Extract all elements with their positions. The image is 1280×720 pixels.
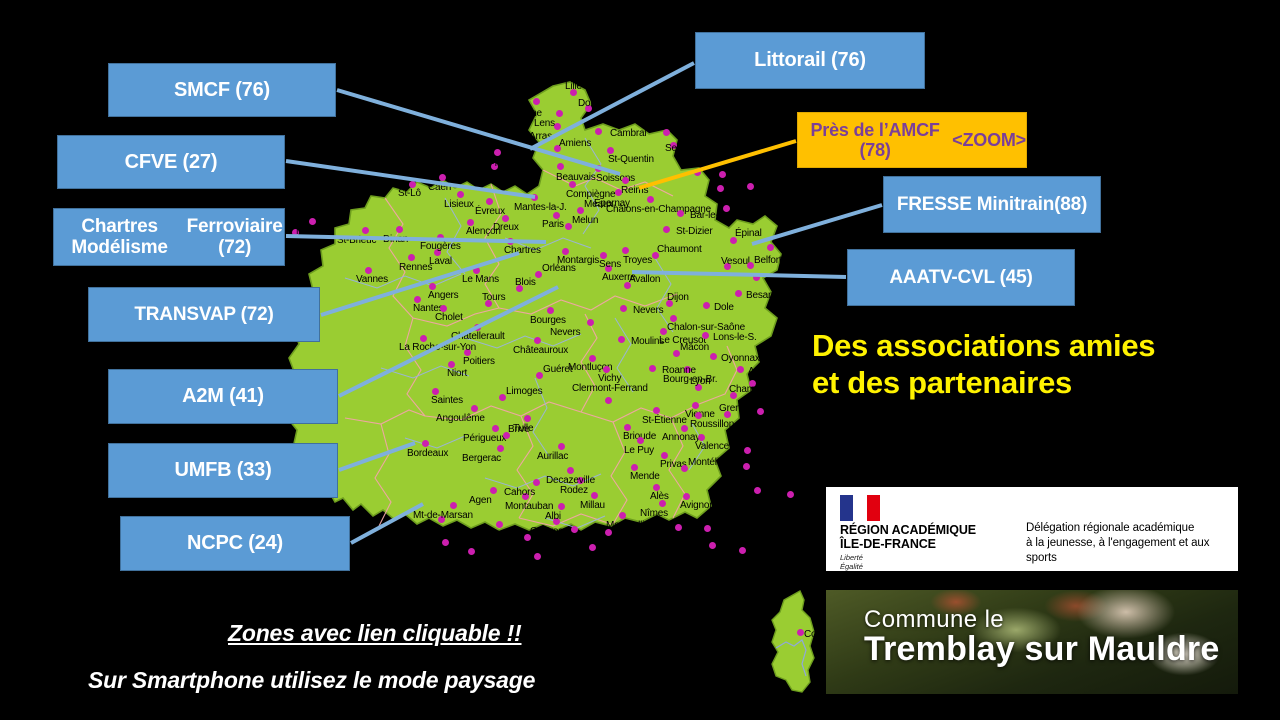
page-title-line: Des associations amies bbox=[812, 328, 1242, 365]
label-box-fresse[interactable]: FRESSE Minitrain(88) bbox=[883, 176, 1101, 233]
label-box-aaatv[interactable]: AAATV-CVL (45) bbox=[847, 249, 1075, 306]
slide-canvas: BéthuneLensArrasDouaiLilleCambraiAmiensS… bbox=[0, 0, 1280, 720]
label-box-cfve[interactable]: CFVE (27) bbox=[57, 135, 285, 189]
label-text-line: TRANSVAP (72) bbox=[134, 304, 273, 325]
french-flag-icon bbox=[840, 495, 880, 521]
note-landscape-mode: Sur Smartphone utilisez le mode paysage bbox=[88, 667, 535, 694]
label-box-umfb[interactable]: UMFB (33) bbox=[108, 443, 338, 498]
label-text-line: Chartres Modélisme bbox=[54, 216, 185, 259]
logo-commune-tremblay-sur-mauldre[interactable]: Commune le Tremblay sur Mauldre bbox=[826, 590, 1238, 694]
label-text-line: Près de l’AMCF (78) bbox=[798, 120, 952, 160]
page-title-line: et des partenaires bbox=[812, 365, 1242, 402]
label-text-line: (88) bbox=[1054, 194, 1087, 215]
commune-name: Tremblay sur Mauldre bbox=[864, 630, 1219, 669]
label-box-ncpc[interactable]: NCPC (24) bbox=[120, 516, 350, 571]
label-box-smcf[interactable]: SMCF (76) bbox=[108, 63, 336, 117]
logo-subtitle-line2: à la jeunesse, à l'engagement et aux spo… bbox=[1026, 536, 1238, 566]
label-text-line: A2M (41) bbox=[182, 385, 264, 407]
logo-subtitle: Délégation régionale académique à la jeu… bbox=[1026, 521, 1238, 566]
label-text-line: CFVE (27) bbox=[125, 151, 218, 173]
label-text-line: Ferroviaire (72) bbox=[185, 216, 284, 259]
logo-subtitle-line1: Délégation régionale académique bbox=[1026, 521, 1238, 536]
label-text-line: <ZOOM> bbox=[952, 130, 1026, 150]
label-box-amcf[interactable]: Près de l’AMCF (78)<ZOOM> bbox=[797, 112, 1027, 168]
label-box-chartres[interactable]: Chartres ModélismeFerroviaire (72) bbox=[53, 208, 285, 266]
label-text-line: AAATV-CVL (45) bbox=[889, 267, 1032, 288]
label-text-line: NCPC (24) bbox=[187, 532, 283, 554]
label-text-line: Littorail (76) bbox=[754, 49, 866, 71]
label-box-a2m[interactable]: A2M (41) bbox=[108, 369, 338, 424]
label-box-littorail[interactable]: Littorail (76) bbox=[695, 32, 925, 89]
logo-region-academique-idf[interactable]: RÉGION ACADÉMIQUE ÎLE-DE-FRANCE Liberté … bbox=[826, 487, 1238, 571]
label-text-line: FRESSE Minitrain bbox=[897, 194, 1054, 215]
note-clickable-zones: Zones avec lien cliquable !! bbox=[228, 620, 522, 647]
label-text-line: UMFB (33) bbox=[174, 459, 271, 481]
label-box-transvap[interactable]: TRANSVAP (72) bbox=[88, 287, 320, 342]
label-text-line: SMCF (76) bbox=[174, 79, 270, 101]
page-title: Des associations amieset des partenaires bbox=[812, 328, 1242, 401]
